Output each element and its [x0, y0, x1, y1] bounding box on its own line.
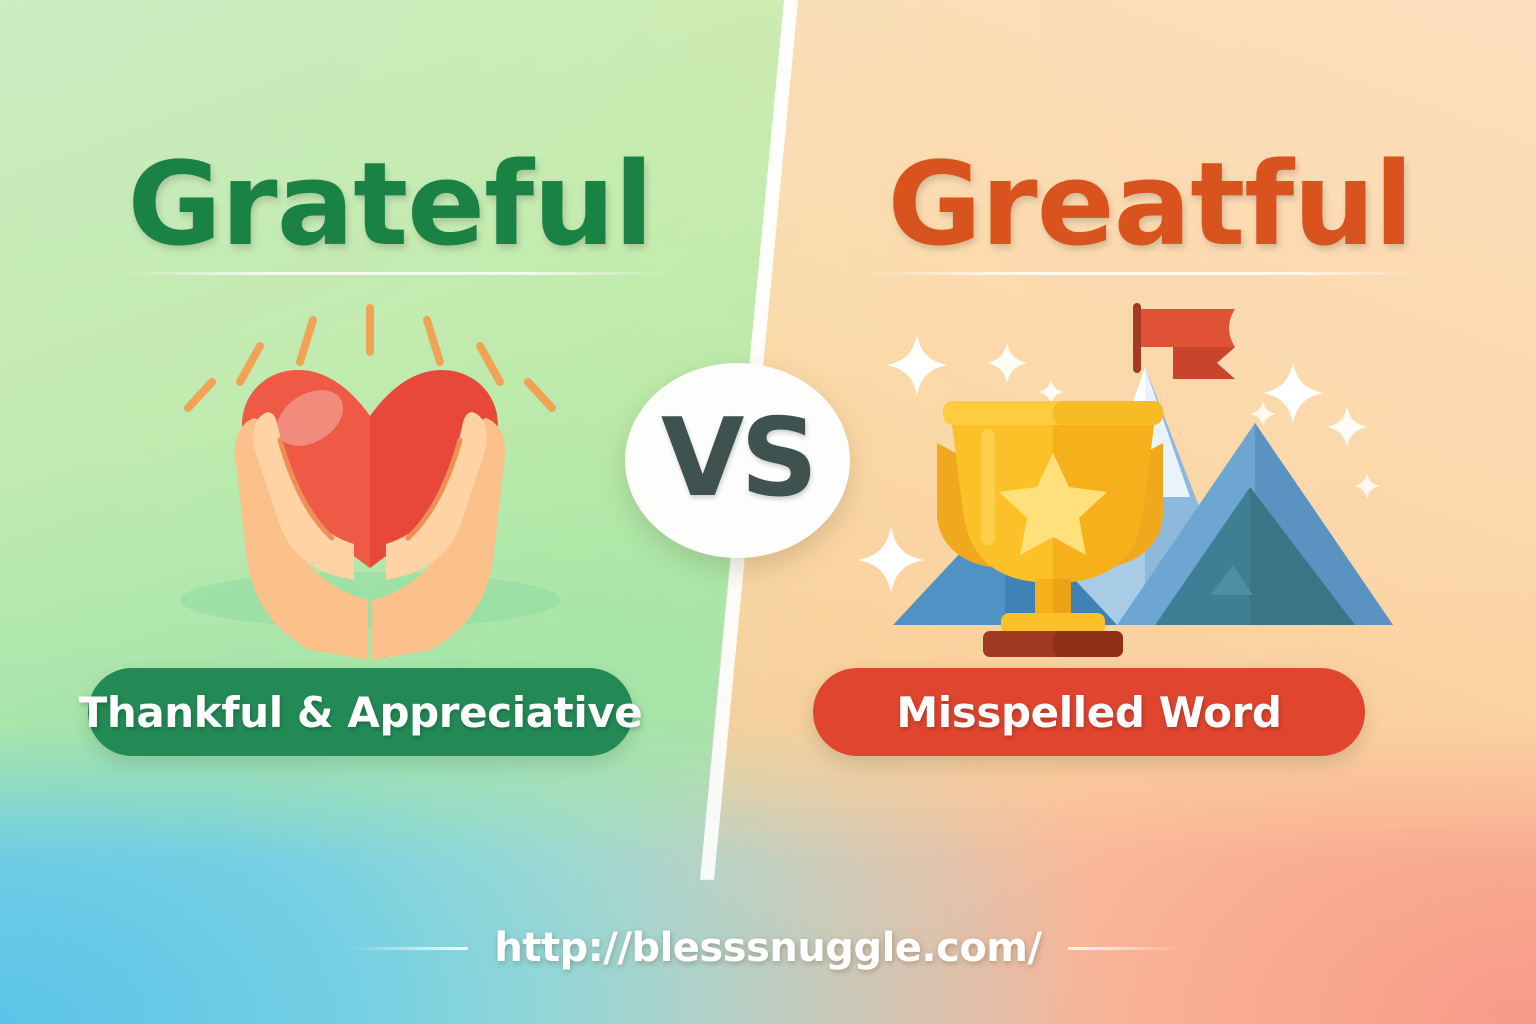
right-pill-label: Misspelled Word: [813, 668, 1365, 756]
vs-label: VS: [661, 405, 814, 513]
footer-rule-right: [1068, 947, 1186, 950]
vs-badge: VS: [625, 363, 850, 558]
left-pill-label: Thankful & Appreciative: [88, 668, 633, 756]
right-title: Greatful: [800, 138, 1500, 272]
left-title-underline: [115, 272, 670, 275]
footer-rule-left: [350, 947, 468, 950]
trophy-mountain-flag-icon: [855, 295, 1415, 660]
hands-holding-heart-icon: [150, 300, 590, 660]
left-title: Grateful: [40, 138, 740, 272]
right-title-underline: [862, 272, 1422, 275]
comparison-graphic: Grateful Greatful: [0, 0, 1536, 1024]
footer-url: http://blesssnuggle.com/: [494, 925, 1041, 971]
footer: http://blesssnuggle.com/: [0, 912, 1536, 984]
